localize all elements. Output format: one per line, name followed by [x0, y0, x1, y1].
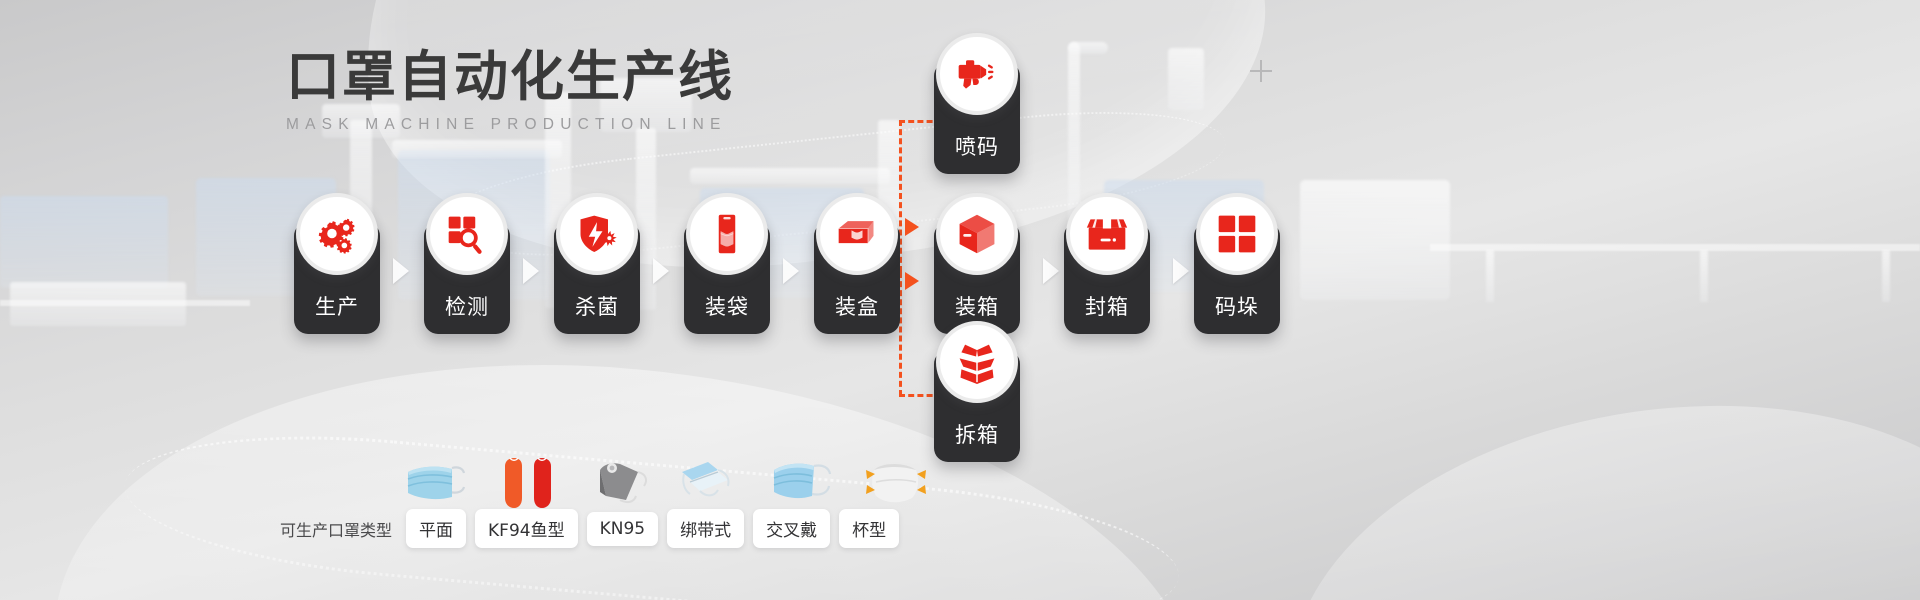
inkjet-spray-gun-icon [955, 52, 999, 96]
flow-node-label: 装盒 [814, 291, 900, 321]
sterilize-badge [556, 193, 638, 275]
factory-machine-glass-left [0, 196, 168, 288]
boxing-badge [936, 193, 1018, 275]
conveyor-line-left [0, 300, 250, 306]
sealing-badge [1066, 193, 1148, 275]
factory-machine-cabinet-g [1300, 180, 1450, 300]
flow-node-label: 生产 [294, 291, 380, 321]
mask-bag-icon [705, 212, 749, 256]
inkjet-coding-badge [936, 33, 1018, 115]
flow-node-label: 码垛 [1194, 291, 1280, 321]
mask-production-line-banner: 口罩自动化生产线 MASK MACHINE PRODUCTION LINE [0, 0, 1920, 600]
kn95-carbon-mask-icon [584, 452, 658, 514]
mask-product-images [400, 452, 934, 514]
flow-node-label: 拆箱 [934, 419, 1020, 449]
mask-product-image [584, 452, 658, 514]
flow-node-sealing[interactable]: 封箱 [1064, 222, 1150, 334]
flow-node-sterilize[interactable]: 杀菌 [554, 222, 640, 334]
flow-node-label: 封箱 [1064, 291, 1150, 321]
conveyor-leg-1 [1486, 250, 1494, 302]
factory-machine-left-base [10, 282, 186, 326]
flow-arrow-2 [523, 258, 539, 284]
red-arrow-into-cartoning [905, 218, 919, 236]
cross-strap-mask-icon [768, 452, 842, 514]
kf94-fish-mask-pair-icon [492, 452, 566, 514]
flow-node-production[interactable]: 生产 [294, 222, 380, 334]
gears-icon [315, 212, 359, 256]
flow-node-label: 杀菌 [554, 291, 640, 321]
mask-type-tag-row: 可生产口罩类型 平面 KF94鱼型 KN95 绑带式 交叉戴 杯型 [280, 509, 899, 548]
page-subtitle: MASK MACHINE PRODUCTION LINE [286, 116, 734, 134]
mask-product-image [676, 452, 750, 514]
flow-node-palletizing[interactable]: 码垛 [1194, 222, 1280, 334]
factory-machine-arm-e [1068, 42, 1108, 54]
mask-product-image [400, 452, 474, 514]
flow-arrow-3 [653, 258, 669, 284]
page-title: 口罩自动化生产线 [286, 48, 734, 106]
flow-node-cartoning[interactable]: 装盒 [814, 222, 900, 334]
production-badge [296, 193, 378, 275]
mask-type-tag-cup[interactable]: 杯型 [839, 509, 899, 548]
flow-node-inkjet-coding[interactable]: 喷码 [934, 62, 1020, 174]
mask-type-tag-tie-on[interactable]: 绑带式 [667, 509, 744, 548]
flow-node-inspection[interactable]: 检测 [424, 222, 510, 334]
flow-node-unboxing[interactable]: 拆箱 [934, 350, 1020, 462]
mask-watermark-bottom-right [1259, 359, 1920, 600]
mask-product-image [860, 452, 934, 514]
cartoning-badge [816, 193, 898, 275]
palletizing-badge [1196, 193, 1278, 275]
factory-machine-gantry-b [392, 140, 562, 158]
factory-machine-gantry-d [690, 168, 890, 184]
flow-node-label: 检测 [424, 291, 510, 321]
flow-arrow-4 [783, 258, 799, 284]
tie-on-mask-stack-icon [676, 452, 750, 514]
title-block: 口罩自动化生产线 MASK MACHINE PRODUCTION LINE [286, 48, 734, 134]
mask-type-tag-kn95[interactable]: KN95 [587, 512, 659, 546]
open-flaps-box-icon [955, 340, 999, 384]
magnifier-inspection-icon [445, 212, 489, 256]
inspection-badge [426, 193, 508, 275]
flow-node-label: 装箱 [934, 291, 1020, 321]
flow-node-label: 装袋 [684, 291, 770, 321]
flow-node-bagging[interactable]: 装袋 [684, 222, 770, 334]
open-carton-icon [835, 212, 879, 256]
bagging-badge [686, 193, 768, 275]
red-arrow-into-boxing [905, 272, 919, 290]
mask-product-image [768, 452, 842, 514]
mask-type-tag-flat[interactable]: 平面 [406, 509, 466, 548]
taped-box-icon [1085, 212, 1129, 256]
plus-decoration-icon [1250, 60, 1272, 82]
unboxing-badge [936, 321, 1018, 403]
palletize-grid-icon [1215, 212, 1259, 256]
shield-sterilize-icon [575, 212, 619, 256]
conveyor-leg-2 [1700, 250, 1708, 302]
sealed-cube-box-icon [955, 212, 999, 256]
factory-machine-panel-f [1168, 48, 1204, 110]
mask-type-tag-cross-wear[interactable]: 交叉戴 [753, 509, 830, 548]
flow-node-boxing[interactable]: 装箱 [934, 222, 1020, 334]
flow-arrow-1 [393, 258, 409, 284]
cup-mask-icon [860, 452, 934, 514]
flow-node-label: 喷码 [934, 131, 1020, 161]
mask-types-label: 可生产口罩类型 [280, 517, 392, 541]
mask-product-image [492, 452, 566, 514]
conveyor-leg-3 [1882, 250, 1890, 302]
flow-arrow-7 [1173, 258, 1189, 284]
mask-type-tag-kf94[interactable]: KF94鱼型 [475, 509, 578, 548]
conveyor-line-right [1430, 244, 1920, 251]
flow-arrow-6 [1043, 258, 1059, 284]
flat-surgical-mask-icon [400, 452, 474, 514]
